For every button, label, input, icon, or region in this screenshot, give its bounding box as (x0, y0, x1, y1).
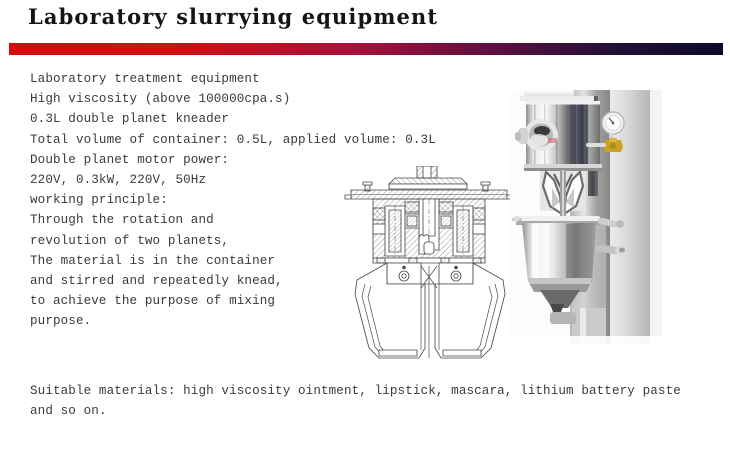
spec-line: High viscosity (above 100000cpa.s) (30, 89, 450, 109)
materials-line: and so on. (30, 401, 710, 421)
page-title: Laboratory slurrying equipment (28, 4, 438, 29)
equipment-photo (510, 68, 662, 370)
suitable-materials-note: Suitable materials: high viscosity ointm… (30, 381, 710, 421)
materials-line: Suitable materials: high viscosity ointm… (30, 381, 710, 401)
spec-line: 0.3L double planet kneader (30, 109, 450, 129)
spec-line: Total volume of container: 0.5L, applied… (30, 130, 450, 150)
spec-line: Laboratory treatment equipment (30, 69, 450, 89)
blade-assembly-diagram (343, 166, 515, 366)
divider-bar (9, 43, 723, 55)
